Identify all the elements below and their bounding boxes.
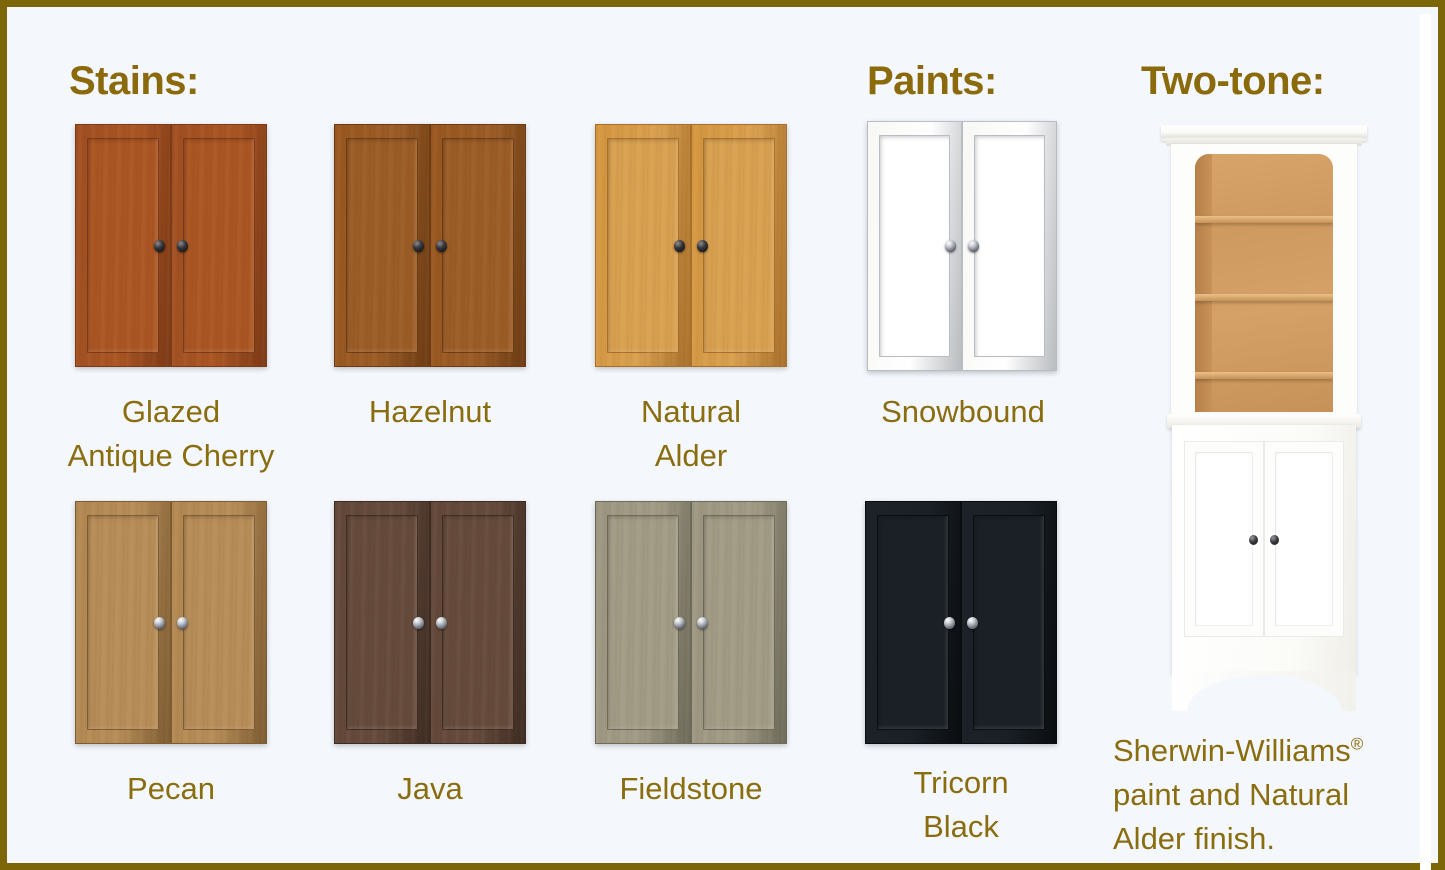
cabinet-door-right[interactable]: [430, 501, 526, 744]
door-panel: [877, 515, 948, 731]
heading-paints: Paints:: [867, 61, 997, 101]
cabinet-doors: [595, 124, 787, 367]
door-knob-icon[interactable]: [413, 617, 424, 629]
door-panel: [973, 515, 1044, 731]
door-knob-icon[interactable]: [436, 617, 447, 629]
cabinet-label-glazed-antique-cherry: Glazed Antique Cherry: [15, 390, 327, 478]
door-knob-icon[interactable]: [945, 240, 956, 252]
cabinet-door-right[interactable]: [171, 501, 267, 744]
door-knob-icon[interactable]: [154, 240, 165, 252]
door-knob-icon[interactable]: [967, 617, 978, 629]
cabinet-door-right[interactable]: [691, 501, 787, 744]
cabinet-door-left[interactable]: [865, 501, 961, 744]
bookcase-door-left[interactable]: [1184, 441, 1264, 637]
cabinet-door-right[interactable]: [430, 124, 526, 367]
two-tone-caption: Sherwin-Williams® paint and Natural Alde…: [1113, 729, 1433, 861]
bookcase-door-right[interactable]: [1264, 441, 1344, 637]
caption-line-1: Sherwin-Williams: [1113, 733, 1351, 768]
bookcase-shelf: [1195, 372, 1333, 379]
door-knob-icon[interactable]: [674, 240, 685, 252]
caption-line-3: Alder finish.: [1113, 821, 1275, 856]
door-knob-icon[interactable]: [697, 617, 708, 629]
cabinet-fieldstone[interactable]: [595, 501, 787, 744]
cabinet-door-left[interactable]: [595, 501, 691, 744]
cabinet-doors: [334, 124, 526, 367]
door-panel: [974, 135, 1045, 357]
caption-line-2: paint and Natural: [1113, 777, 1349, 812]
cabinet-java[interactable]: [334, 501, 526, 744]
cabinet-door-left[interactable]: [75, 501, 171, 744]
cabinet-label-natural-alder: Natural Alder: [545, 390, 837, 478]
door-panel: [442, 138, 513, 354]
cabinet-door-right[interactable]: [961, 501, 1057, 744]
door-panel: [442, 515, 513, 731]
cabinet-doors: [867, 121, 1057, 371]
cabinet-label-java: Java: [284, 767, 576, 811]
cabinet-tricorn-black[interactable]: [865, 501, 1057, 744]
door-panel: [346, 515, 417, 731]
door-panel: [346, 138, 417, 354]
cabinet-door-left[interactable]: [334, 501, 430, 744]
cabinet-door-right[interactable]: [691, 124, 787, 367]
bookcase-shelf: [1195, 294, 1333, 301]
heading-two-tone: Two-tone:: [1141, 61, 1325, 101]
door-panel: [879, 135, 950, 357]
door-knob-icon[interactable]: [177, 240, 188, 252]
cabinet-label-tricorn-black: Tricorn Black: [815, 761, 1107, 849]
cabinet-glazed-antique-cherry[interactable]: [75, 124, 267, 367]
door-knob-icon[interactable]: [177, 617, 188, 629]
door-knob-icon[interactable]: [436, 240, 447, 252]
door-panel: [607, 138, 678, 354]
door-panel: [1275, 452, 1333, 627]
cabinet-label-hazelnut: Hazelnut: [284, 390, 576, 434]
cabinet-door-right[interactable]: [962, 121, 1057, 371]
bookcase-upper-case: [1171, 144, 1357, 420]
cabinet-door-left[interactable]: [867, 121, 962, 371]
door-panel: [87, 138, 158, 354]
poster-frame: Stains: Paints: Two-tone: Glazed Antique…: [0, 0, 1445, 870]
cabinet-pecan[interactable]: [75, 501, 267, 744]
cabinet-label-fieldstone: Fieldstone: [545, 767, 837, 811]
door-panel: [703, 515, 774, 731]
cabinet-door-left[interactable]: [75, 124, 171, 367]
door-knob-icon[interactable]: [413, 240, 424, 252]
cabinet-doors: [75, 501, 267, 744]
door-panel: [607, 515, 678, 731]
door-panel: [703, 138, 774, 354]
cabinet-doors: [75, 124, 267, 367]
door-panel: [87, 515, 158, 731]
cabinet-doors: [334, 501, 526, 744]
door-panel: [183, 138, 254, 354]
right-gutter: [1420, 14, 1431, 870]
door-knob-icon[interactable]: [674, 617, 685, 629]
door-knob-icon[interactable]: [944, 617, 955, 629]
cabinet-snowbound[interactable]: [867, 121, 1057, 371]
door-knob-icon[interactable]: [1249, 535, 1258, 545]
cabinet-door-left[interactable]: [595, 124, 691, 367]
heading-stains: Stains:: [69, 61, 199, 101]
door-panel: [183, 515, 254, 731]
door-knob-icon[interactable]: [697, 240, 708, 252]
cabinet-label-pecan: Pecan: [25, 767, 317, 811]
cabinet-doors: [595, 501, 787, 744]
cabinet-natural-alder[interactable]: [595, 124, 787, 367]
cabinet-door-right[interactable]: [171, 124, 267, 367]
door-panel: [1195, 452, 1253, 627]
cabinet-label-snowbound: Snowbound: [817, 390, 1109, 434]
bookcase-shelf: [1195, 216, 1333, 223]
cabinet-door-left[interactable]: [334, 124, 430, 367]
door-knob-icon[interactable]: [968, 240, 979, 252]
bookcase-base-doors: [1184, 441, 1344, 637]
bookcase-base-cabinet[interactable]: [1172, 425, 1356, 675]
two-tone-bookcase[interactable]: [1159, 125, 1369, 721]
bookcase-interior: [1195, 154, 1333, 412]
registered-trademark-icon: ®: [1351, 735, 1364, 754]
door-knob-icon[interactable]: [154, 617, 165, 629]
cabinet-hazelnut[interactable]: [334, 124, 526, 367]
cabinet-doors: [865, 501, 1057, 744]
